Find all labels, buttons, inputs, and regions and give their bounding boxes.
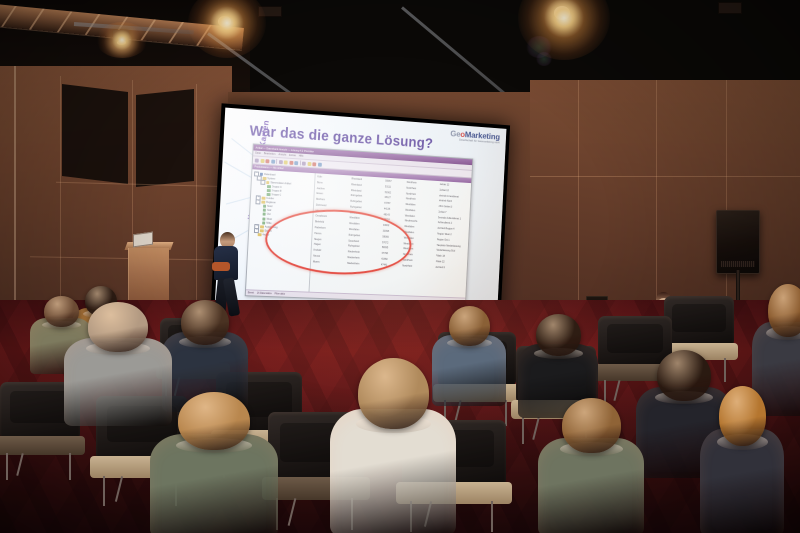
item-icon [267, 193, 270, 196]
table-cell: Nordrhein [403, 253, 434, 258]
item-icon [263, 209, 266, 212]
wall-seam [60, 76, 61, 326]
tree-node-label: Datenbank [264, 173, 276, 177]
chair-leg [103, 476, 105, 506]
table-cell: Niederrhein [347, 262, 379, 267]
table-cell: 33098 [383, 230, 403, 235]
logo-prefix: Ge [450, 128, 461, 138]
wall-seam [196, 84, 197, 324]
table-cell: 47798 [381, 252, 401, 257]
table-cell: Hauptsitz Niederlassung [436, 244, 467, 249]
embedded-app-screenshot: Artikel — Datenbank Ansicht — Lösung 4.2… [245, 143, 474, 304]
table-cell: Niederrhein [347, 256, 379, 262]
attendee-head [536, 314, 581, 356]
table-cell: 41460 [381, 258, 401, 263]
chair-back [664, 296, 734, 345]
table-cell: Nordrhein [402, 259, 433, 264]
attendee-head [719, 386, 766, 446]
wall-seam [578, 80, 579, 330]
tree-node-label: Gruppe A [271, 185, 281, 189]
wall-acoustic-panel [136, 89, 194, 187]
folder-icon [266, 181, 269, 184]
tree-node-label: Regionen [266, 201, 276, 205]
speaker-grille [721, 261, 755, 267]
wall-corner [14, 66, 16, 324]
table-cell: Filiale 18 [436, 255, 467, 260]
column-status: NordrheinNordrheinNordrheinNordrheinWest… [400, 181, 437, 304]
table-cell: Paderborn [315, 226, 348, 232]
wall-acoustic-panel [62, 84, 128, 184]
table-cell: Niederrhein [348, 250, 380, 256]
table-cell: 44135 [384, 207, 404, 212]
cut-icon[interactable] [278, 160, 282, 164]
table-cell: 57072 [382, 241, 402, 246]
tree-node-label: West [266, 217, 272, 220]
wall-seam [726, 80, 727, 330]
table-cell: 50667 [385, 180, 405, 185]
tree-node-label: Ost [267, 213, 271, 216]
table-cell: 58095 [382, 246, 402, 251]
copy-icon[interactable] [284, 160, 288, 164]
table-cell: Neuss [313, 254, 346, 260]
attendee-head [768, 284, 800, 337]
table-cell: Hagen [314, 243, 347, 249]
tree-node-label: Süd [267, 209, 271, 212]
tree-node-label: Export [264, 229, 271, 232]
chair-leg [16, 453, 24, 476]
status-text: Bereit [248, 291, 254, 294]
table-cell: Region West 2 [437, 233, 468, 239]
tree-node-label: Kunden [266, 197, 274, 200]
app-data-columns: KölnBonnAachenEssenBochumDortmundMünster… [309, 173, 471, 304]
tree-spacer-icon [263, 189, 266, 192]
tree-node-label: Nord [267, 205, 272, 208]
tree-node-label: Mitte [266, 221, 271, 224]
attendee-head [88, 302, 148, 352]
table-cell: Westfalen [403, 247, 434, 253]
tree-spacer-icon [259, 205, 262, 208]
item-icon [262, 221, 265, 224]
chair-leg [115, 476, 123, 502]
filter-icon[interactable] [302, 161, 306, 165]
tree-spacer-icon [259, 209, 262, 212]
tree-spacer-icon [263, 185, 266, 188]
app-menu-item[interactable]: Hilfe [299, 154, 304, 157]
table-cell: 33602 [383, 224, 403, 229]
app-menu-item[interactable]: Ansicht [278, 153, 286, 156]
toolbar-separator [276, 159, 277, 164]
table-cell: Westfalen [404, 225, 435, 231]
table-cell: Bielefeld [315, 221, 348, 227]
spotlight-left-core [117, 40, 126, 45]
spotlight-center-core [218, 16, 231, 27]
tree-node-label: Gruppe C [271, 193, 282, 197]
tree-spacer-icon [263, 193, 266, 196]
app-menu-item[interactable]: Bearbeiten [264, 152, 276, 156]
table-cell: Ruhrgebiet [349, 234, 381, 240]
chair-leg [69, 453, 71, 480]
status-text: Filter aktiv [275, 292, 286, 295]
table-cell: 59065 [382, 235, 402, 240]
table-cell: 52062 [385, 191, 405, 196]
table-cell: Westfalen [349, 228, 381, 234]
table-cell: 53111 [385, 185, 405, 190]
column-name: KölnBonnAachenEssenBochumDortmundMünster… [311, 175, 350, 300]
tree-spacer-icon [259, 213, 262, 216]
sort-icon[interactable] [307, 161, 311, 165]
tree-node-label: Archiv [262, 233, 269, 236]
table-cell: Ruhrgebiet [348, 245, 380, 251]
tree-node-label: System [267, 177, 275, 180]
find-icon[interactable] [294, 161, 298, 165]
table-cell: Nordrhein [402, 264, 433, 269]
ceiling-vent [718, 2, 742, 14]
attendee-head [562, 398, 621, 453]
app-tree-view[interactable]: -Datenbank-System-Stammdaten ArtikelGrup… [246, 169, 316, 299]
tree-spacer-icon [254, 233, 257, 236]
app-menu-item[interactable]: Extras [289, 154, 296, 157]
folder-icon [260, 229, 263, 232]
conference-room-photo: War das die ganze Lösung? …line - wir ma… [0, 0, 800, 533]
pa-speaker [716, 210, 760, 274]
ceiling-vent [258, 6, 282, 17]
print-icon[interactable] [271, 159, 275, 163]
chair-leg [6, 453, 8, 480]
attendee-head [358, 358, 429, 429]
column-region: RheinlandRheinlandRheinlandRuhrgebietRuh… [345, 177, 383, 302]
table-cell: Filiale 22 [435, 260, 466, 265]
new-icon[interactable] [255, 158, 259, 162]
table-cell: Vertrieb 9 [435, 266, 466, 271]
spotlight-right-core [554, 6, 570, 20]
presenter-hand-object [212, 262, 230, 271]
column-detail: Gebiet 12Gebiet 12Vertrieb InnendienstVe… [433, 183, 470, 304]
tree-node-label: Gruppe B [271, 189, 281, 193]
table-cell: Vertrieb Region 4 [437, 227, 468, 233]
folder-icon [262, 197, 265, 200]
save-icon[interactable] [265, 159, 269, 163]
attendee-ginger-11 [700, 386, 784, 533]
table-cell: Moers [313, 260, 346, 266]
wall-rail [530, 176, 800, 177]
folder-icon [262, 201, 265, 204]
item-icon [267, 185, 270, 188]
item-icon [263, 205, 266, 208]
tree-node-label: Auswertung [265, 225, 278, 229]
chair-seat [0, 436, 85, 455]
item-icon [267, 189, 270, 192]
attendee-brown-hair-10 [538, 398, 644, 533]
table-cell: Krefeld [313, 249, 346, 255]
table-cell: 48143 [383, 213, 403, 218]
refresh-icon[interactable] [312, 162, 316, 166]
attendee-striped-shirt-6 [330, 358, 456, 533]
table-cell: Siegen [314, 238, 347, 244]
attendee-head [181, 300, 229, 345]
table-cell: Region Ost 1 [437, 238, 468, 244]
table-cell: Sauerland [348, 239, 380, 245]
toolbar-separator [299, 160, 300, 165]
folder-icon [260, 225, 263, 228]
table-cell: 44787 [384, 202, 404, 207]
geomarketing-logo: GeoMarketing Gesellschaft für Geomarketi… [450, 129, 500, 144]
table-cell: 49074 [383, 219, 403, 224]
chair-leg [288, 498, 297, 525]
tree-spacer-icon [258, 217, 261, 220]
lens-flare [536, 52, 552, 66]
presentation-slide: War das die ganze Lösung? …line - wir ma… [215, 108, 507, 319]
app-body: -Datenbank-System-Stammdaten ArtikelGrup… [246, 169, 472, 304]
table-cell: Westfalen [404, 236, 435, 242]
chair-leg [522, 417, 524, 444]
projection-screen: War das die ganze Lösung? …line - wir ma… [210, 103, 510, 322]
table-cell: Niederlassung Süd [436, 249, 467, 254]
table-cell: Westfalen [403, 242, 434, 248]
status-text: 16 Datensätze [257, 292, 272, 296]
item-icon [262, 217, 265, 220]
attendee-blond-green-5 [150, 392, 278, 533]
table-cell: Hamm [314, 232, 347, 238]
table-cell: 45127 [384, 196, 404, 201]
table-cell: Westfalen [404, 231, 435, 237]
open-icon[interactable] [260, 158, 264, 162]
app-menu-item[interactable]: Datei [255, 152, 261, 155]
table-cell: 47441 [381, 263, 401, 268]
table-cell: Westfalen [349, 222, 381, 228]
attendee-head [178, 392, 250, 450]
attendee-head [449, 306, 490, 346]
paste-icon[interactable] [289, 160, 293, 164]
help-icon[interactable] [317, 162, 321, 166]
chair-leg [491, 501, 493, 532]
folder-icon [258, 233, 261, 236]
